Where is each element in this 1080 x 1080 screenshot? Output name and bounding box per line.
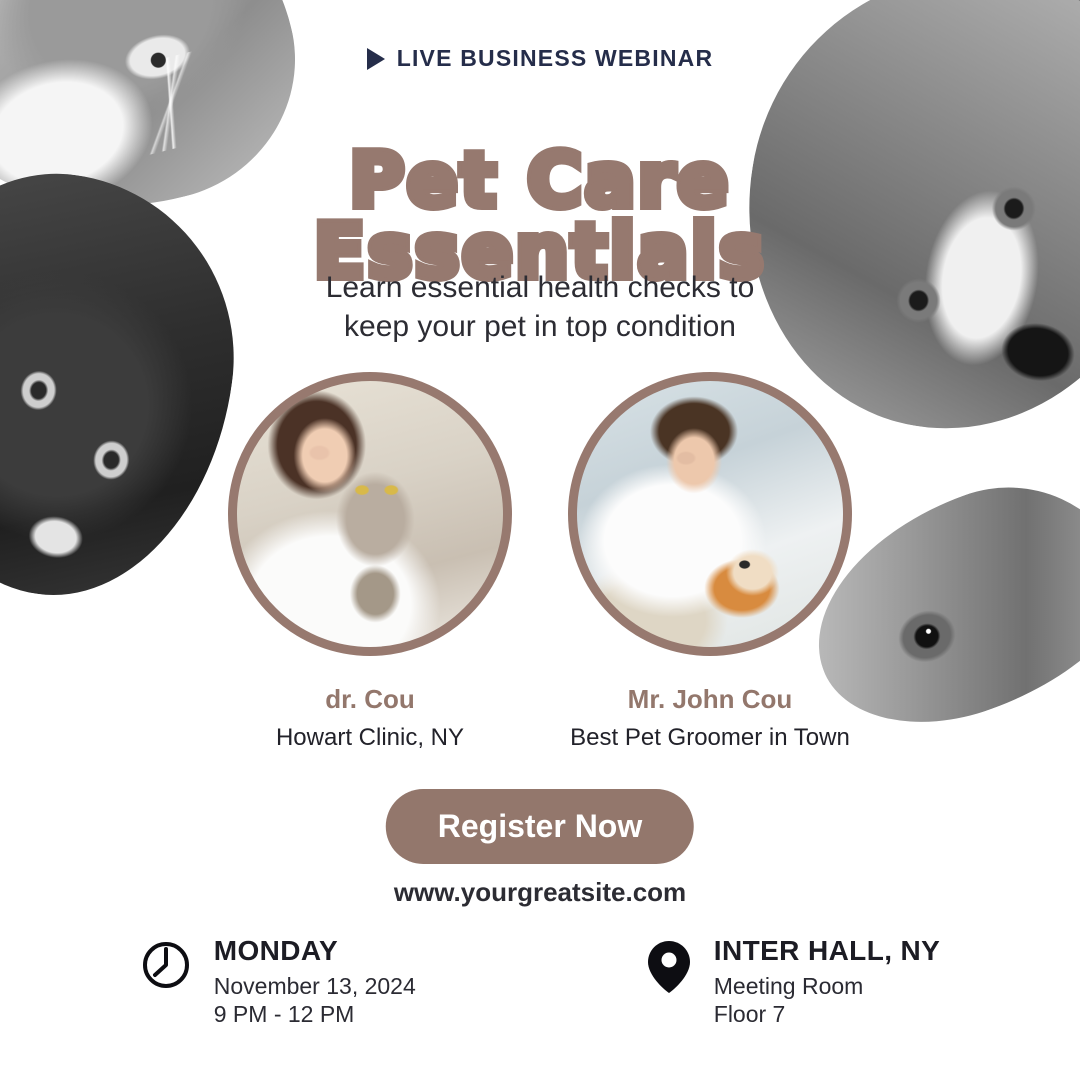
avatar (228, 372, 512, 656)
title-line-1: Pet Care (0, 145, 1080, 216)
speaker-card-2: Mr. John Cou Best Pet Groomer in Town (560, 372, 860, 752)
venue-line-2: Floor 7 (714, 1000, 940, 1028)
date-block: MONDAY November 13, 2024 9 PM - 12 PM (140, 935, 416, 1028)
speaker-role: Howart Clinic, NY (220, 724, 520, 752)
eyebrow-label: LIVE BUSINESS WEBINAR (397, 45, 714, 72)
date-title: MONDAY (214, 935, 416, 967)
date-text-group: MONDAY November 13, 2024 9 PM - 12 PM (214, 935, 416, 1028)
map-pin-icon (646, 939, 692, 1000)
venue-line-1: Meeting Room (714, 972, 940, 1000)
page-title: Pet Care Essentials (0, 145, 1080, 286)
webinar-poster: LIVE BUSINESS WEBINAR Pet Care Essential… (0, 0, 1080, 1080)
register-button[interactable]: Register Now (386, 789, 694, 864)
venue-block: INTER HALL, NY Meeting Room Floor 7 (646, 935, 940, 1028)
avatar (568, 372, 852, 656)
venue-title: INTER HALL, NY (714, 935, 940, 967)
speaker-card-1: dr. Cou Howart Clinic, NY (220, 372, 520, 752)
venue-text-group: INTER HALL, NY Meeting Room Floor 7 (714, 935, 940, 1028)
decor-dog-ear-photo (898, 0, 1080, 162)
subtitle-line-2: keep your pet in top condition (0, 307, 1080, 346)
eyebrow-row: LIVE BUSINESS WEBINAR (0, 45, 1080, 72)
subtitle: Learn essential health checks to keep yo… (0, 268, 1080, 346)
speaker-list: dr. Cou Howart Clinic, NY Mr. John Cou B… (0, 372, 1080, 752)
date-line-1: November 13, 2024 (214, 972, 416, 1000)
play-triangle-icon (367, 48, 385, 70)
footer-info: MONDAY November 13, 2024 9 PM - 12 PM IN… (0, 935, 1080, 1028)
clock-icon (140, 939, 192, 996)
speaker-name: dr. Cou (220, 684, 520, 715)
date-line-2: 9 PM - 12 PM (214, 1000, 416, 1028)
speaker-name: Mr. John Cou (560, 684, 860, 715)
subtitle-line-1: Learn essential health checks to (0, 268, 1080, 307)
website-link[interactable]: www.yourgreatsite.com (0, 877, 1080, 908)
speaker-role: Best Pet Groomer in Town (560, 724, 860, 752)
